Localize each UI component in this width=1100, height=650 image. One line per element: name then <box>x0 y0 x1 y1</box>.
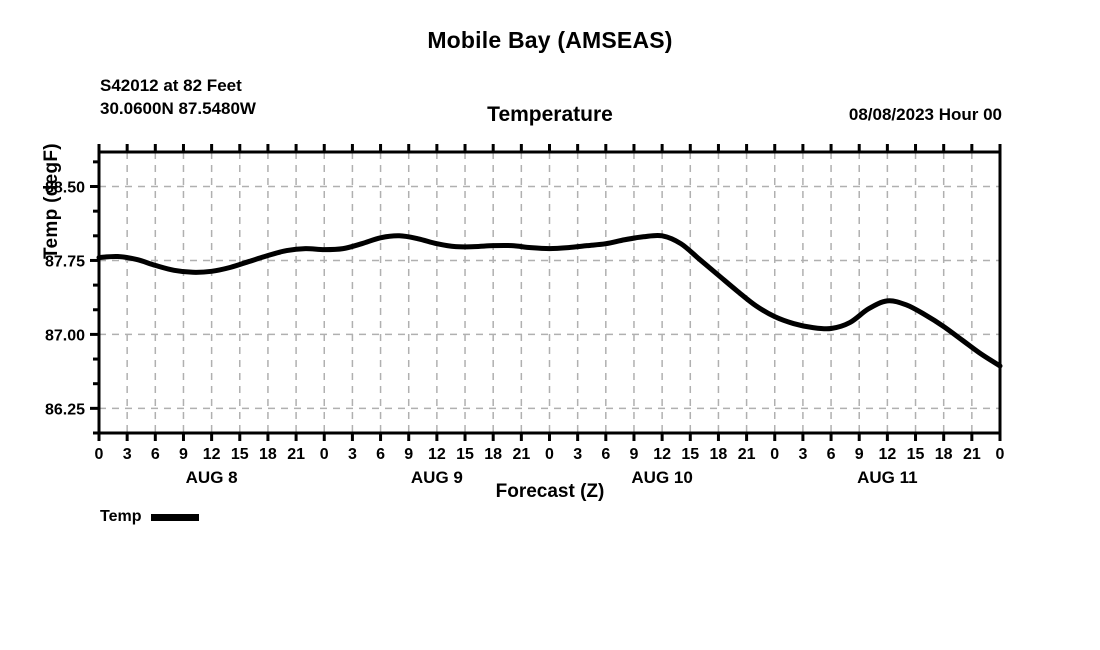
x-tick-label: 9 <box>855 446 864 463</box>
x-tick-label: 18 <box>484 446 502 463</box>
x-tick-label: 0 <box>770 446 779 463</box>
x-tick-label: 12 <box>203 446 221 463</box>
x-tick-label: 0 <box>545 446 554 463</box>
temperature-line-chart: 86.2587.0087.7588.5003691215182103691215… <box>0 0 1100 650</box>
y-tick-label: 87.00 <box>45 327 85 344</box>
x-tick-label: 0 <box>996 446 1005 463</box>
x-tick-label: 6 <box>827 446 836 463</box>
legend-swatch-temp <box>151 514 199 521</box>
x-tick-label: 6 <box>601 446 610 463</box>
x-tick-label: 15 <box>456 446 474 463</box>
x-tick-label: 9 <box>630 446 639 463</box>
x-tick-label: 12 <box>428 446 446 463</box>
x-tick-label: 6 <box>151 446 160 463</box>
x-tick-label: 3 <box>348 446 357 463</box>
x-tick-label: 3 <box>798 446 807 463</box>
x-tick-label: 12 <box>878 446 896 463</box>
x-tick-label: 18 <box>710 446 728 463</box>
x-axis-title: Forecast (Z) <box>0 481 1100 503</box>
x-tick-label: 0 <box>320 446 329 463</box>
x-tick-label: 21 <box>738 446 756 463</box>
y-tick-label: 86.25 <box>45 401 85 418</box>
y-tick-label: 87.75 <box>45 253 85 270</box>
x-tick-label: 18 <box>935 446 953 463</box>
x-tick-label: 18 <box>259 446 277 463</box>
x-tick-label: 6 <box>376 446 385 463</box>
x-tick-label: 9 <box>179 446 188 463</box>
chart-page: Mobile Bay (AMSEAS) S42012 at 82 Feet 30… <box>0 0 1100 650</box>
x-tick-label: 15 <box>681 446 699 463</box>
legend-label-temp: Temp <box>100 508 141 526</box>
chart-legend: Temp <box>100 508 199 526</box>
y-tick-label: 88.50 <box>45 180 85 197</box>
x-tick-label: 0 <box>95 446 104 463</box>
x-tick-label: 21 <box>512 446 530 463</box>
x-tick-label: 21 <box>287 446 305 463</box>
x-tick-label: 15 <box>231 446 249 463</box>
x-tick-label: 12 <box>653 446 671 463</box>
x-tick-label: 15 <box>907 446 925 463</box>
x-tick-label: 9 <box>404 446 413 463</box>
x-tick-label: 21 <box>963 446 981 463</box>
x-tick-label: 3 <box>123 446 132 463</box>
x-tick-label: 3 <box>573 446 582 463</box>
